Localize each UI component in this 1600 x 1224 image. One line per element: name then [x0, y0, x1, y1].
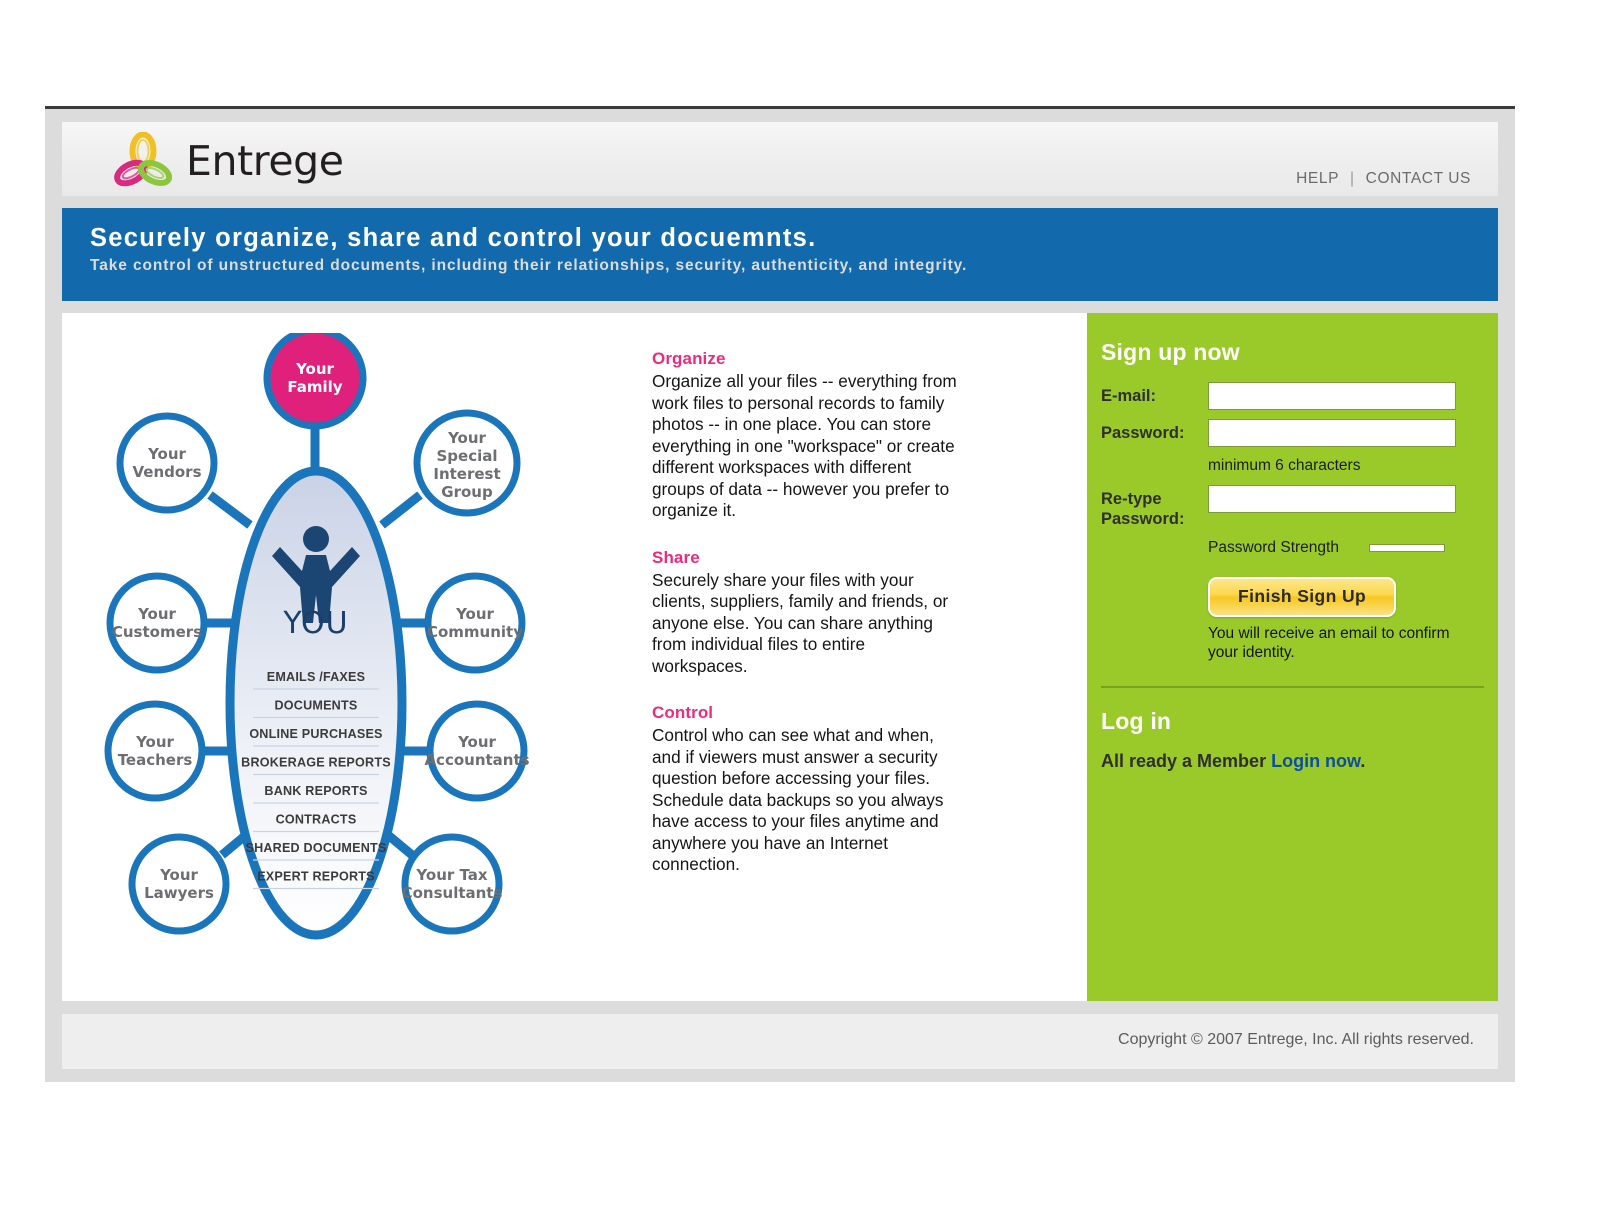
feature-heading: Organize	[652, 349, 962, 369]
svg-text:Accountants: Accountants	[424, 751, 529, 769]
password-hint-row: minimum 6 characters	[1101, 456, 1470, 476]
feature-control: Control Control who can see what and whe…	[652, 703, 962, 876]
retype-password-input[interactable]	[1208, 485, 1456, 513]
feature-share: Share Securely share your files with you…	[652, 548, 962, 678]
hint-spacer	[1101, 456, 1208, 476]
center-item-label: ONLINE PURCHASES	[249, 727, 382, 741]
svg-text:Community: Community	[427, 623, 523, 641]
login-prompt: All ready a Member Login now.	[1101, 751, 1470, 772]
site-footer: Copyright © 2007 Entrege, Inc. All right…	[62, 1014, 1498, 1069]
svg-text:Special: Special	[436, 447, 497, 465]
svg-text:Interest: Interest	[433, 465, 500, 483]
email-label: E-mail:	[1101, 382, 1208, 406]
site-header: Entrege HELP | CONTACT US	[62, 122, 1498, 196]
svg-text:Your: Your	[447, 429, 486, 447]
node-your-lawyers[interactable]: Your Lawyers	[132, 837, 226, 931]
banner-subtitle: Take control of unstructured documents, …	[90, 257, 1498, 275]
feature-body: Control who can see what and when, and i…	[652, 725, 962, 876]
svg-text:Family: Family	[287, 378, 342, 396]
node-your-community[interactable]: Your Community	[427, 576, 523, 670]
svg-text:Your Tax: Your Tax	[415, 866, 488, 884]
banner-title: Securely organize, share and control you…	[90, 224, 1498, 253]
password-input[interactable]	[1208, 419, 1456, 447]
center-label: YOU	[282, 606, 348, 641]
copyright-text: Copyright © 2007 Entrege, Inc. All right…	[1118, 1031, 1474, 1049]
help-link[interactable]: HELP	[1296, 170, 1339, 188]
svg-text:Your: Your	[295, 360, 334, 378]
contact-us-link[interactable]: CONTACT US	[1366, 170, 1471, 188]
hint-spacer	[1101, 538, 1208, 558]
login-now-link[interactable]: Login now	[1271, 751, 1360, 771]
signup-action-row: Finish Sign Up	[1101, 577, 1470, 617]
svg-text:Customers: Customers	[112, 623, 202, 641]
svg-text:Your: Your	[135, 733, 174, 751]
center-item-label: EMAILS /FAXES	[267, 670, 365, 684]
hero-banner: Securely organize, share and control you…	[62, 208, 1498, 301]
password-strength-label: Password Strength	[1208, 538, 1339, 558]
feature-organize: Organize Organize all your files -- ever…	[652, 349, 962, 522]
center-item-label: BROKERAGE REPORTS	[241, 756, 391, 770]
center-item-label: SHARED DOCUMENTS	[245, 841, 386, 855]
password-row: Password:	[1101, 419, 1470, 447]
svg-text:Teachers: Teachers	[118, 751, 193, 769]
brand-logo[interactable]: Entrege	[110, 132, 344, 190]
relationship-diagram: YOU EMAILS /FAXESDOCUMENTSONLINE PURCHAS…	[82, 333, 642, 973]
email-input[interactable]	[1208, 382, 1456, 410]
email-row: E-mail:	[1101, 382, 1470, 410]
center-item-label: CONTRACTS	[276, 813, 357, 827]
signup-title: Sign up now	[1101, 339, 1470, 366]
page-frame: Entrege HELP | CONTACT US Securely organ…	[45, 106, 1515, 1082]
password-label: Password:	[1101, 419, 1208, 443]
node-your-tax-consultants[interactable]: Your Tax Consultants	[402, 837, 503, 931]
svg-text:Vendors: Vendors	[132, 463, 201, 481]
finish-sign-up-button[interactable]: Finish Sign Up	[1208, 577, 1396, 617]
node-your-family[interactable]: Your Family	[267, 333, 363, 426]
retype-password-label: Re-typePassword:	[1101, 485, 1208, 529]
svg-text:Your: Your	[159, 866, 198, 884]
svg-text:Group: Group	[441, 483, 493, 501]
node-your-vendors[interactable]: Your Vendors	[120, 416, 214, 510]
svg-text:Your: Your	[457, 733, 496, 751]
feature-heading: Share	[652, 548, 962, 568]
nav-separator: |	[1350, 170, 1355, 188]
node-your-teachers[interactable]: Your Teachers	[108, 704, 202, 798]
signup-form-section: Sign up now E-mail: Password: minimum 6 …	[1087, 339, 1498, 662]
brand-name: Entrege	[186, 137, 344, 185]
feature-body: Organize all your files -- everything fr…	[652, 371, 962, 522]
center-item-label: EXPERT REPORTS	[257, 870, 375, 884]
password-hint: minimum 6 characters	[1208, 456, 1360, 476]
signup-panel: Sign up now E-mail: Password: minimum 6 …	[1087, 313, 1498, 1001]
login-prompt-text: All ready a Member	[1101, 751, 1271, 771]
svg-text:Consultants: Consultants	[402, 884, 503, 902]
three-overlapping-rings-logo-icon	[110, 132, 172, 190]
center-item-label: DOCUMENTS	[275, 699, 358, 713]
login-title: Log in	[1101, 708, 1470, 735]
header-nav: HELP | CONTACT US	[1296, 170, 1471, 188]
svg-text:Your: Your	[137, 605, 176, 623]
login-section: Log in All ready a Member Login now.	[1087, 688, 1498, 772]
feature-heading: Control	[652, 703, 962, 723]
svg-text:Your: Your	[455, 605, 494, 623]
node-your-customers[interactable]: Your Customers	[110, 576, 204, 670]
password-strength-row: Password Strength	[1101, 538, 1470, 558]
center-item-label: BANK REPORTS	[264, 784, 367, 798]
svg-text:Your: Your	[147, 445, 186, 463]
signup-note: You will receive an email to confirm you…	[1101, 624, 1470, 662]
feature-list: Organize Organize all your files -- ever…	[652, 349, 962, 902]
login-period: .	[1360, 751, 1365, 771]
svg-text:Lawyers: Lawyers	[144, 884, 214, 902]
retype-password-row: Re-typePassword:	[1101, 485, 1470, 529]
feature-body: Securely share your files with your clie…	[652, 570, 962, 678]
main-content-panel: YOU EMAILS /FAXESDOCUMENTSONLINE PURCHAS…	[62, 313, 1087, 1001]
node-your-accountants[interactable]: Your Accountants	[424, 704, 529, 798]
password-strength-meter	[1369, 544, 1445, 552]
node-your-special-interest-group[interactable]: Your Special Interest Group	[417, 413, 517, 513]
